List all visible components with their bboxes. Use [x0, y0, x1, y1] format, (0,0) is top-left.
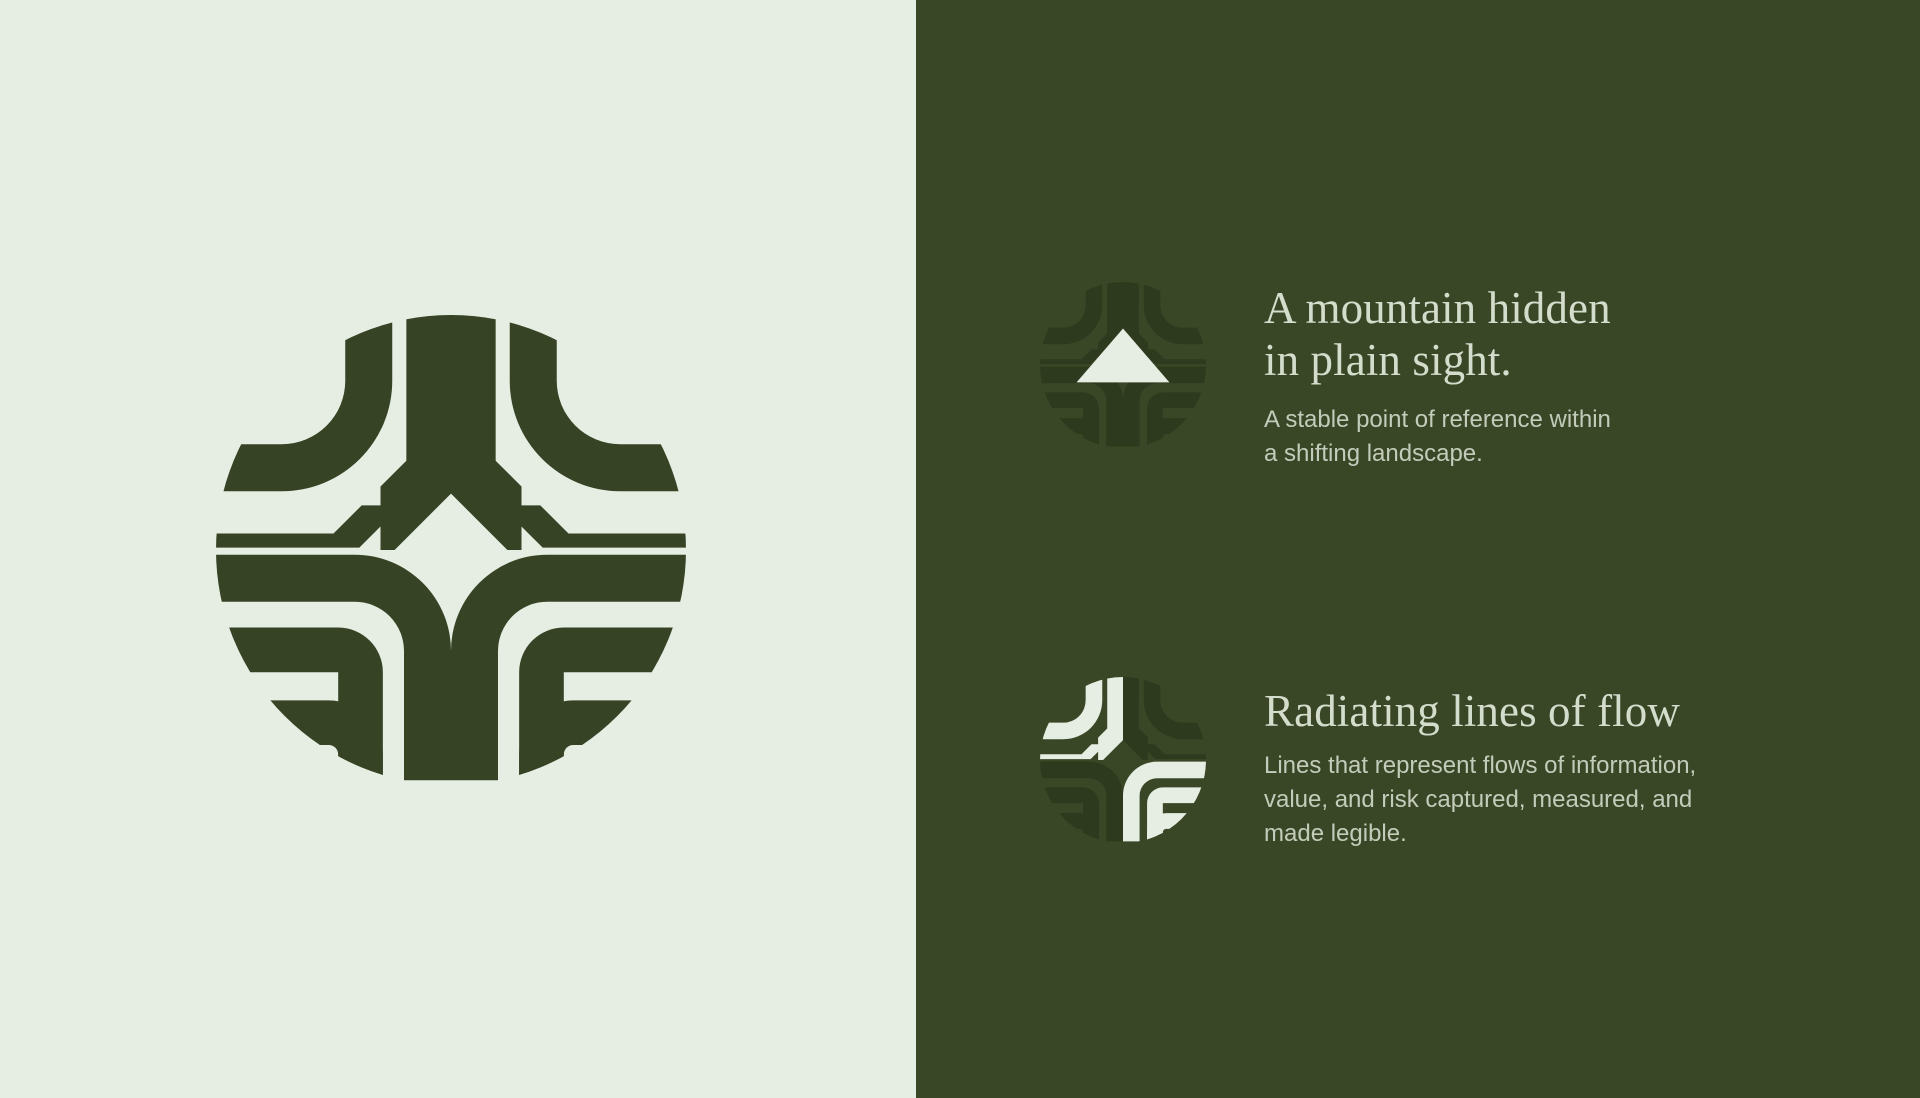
feature-text-block: A mountain hidden in plain sight. A stab…: [1264, 282, 1800, 472]
radiating-flow-lines-icon: [1040, 677, 1206, 843]
flow-quadrant-highlight-top-left: [1040, 677, 1123, 760]
explanation-panel: A mountain hidden in plain sight. A stab…: [916, 0, 1920, 1098]
mountain-in-mark-icon: [1040, 282, 1206, 448]
feature-title: A mountain hidden in plain sight.: [1264, 282, 1800, 386]
mark-quadrant-top-right: [451, 315, 686, 550]
brand-mark-logo: [216, 315, 686, 785]
flow-quadrant-dim-top-right: [1123, 677, 1206, 760]
flow-quadrant-dim-bottom-left: [1040, 761, 1123, 841]
showcase-panel: [0, 0, 916, 1098]
mark-quadrant-top-left: [216, 315, 451, 550]
feature-item-flow-lines: Radiating lines of flow Lines that repre…: [1040, 677, 1800, 851]
feature-description: A stable point of reference within a shi…: [1264, 403, 1800, 471]
feature-description: Lines that represent flows of informatio…: [1264, 749, 1800, 851]
feature-text-block: Radiating lines of flow Lines that repre…: [1264, 677, 1800, 851]
flow-quadrant-highlight-bottom-right: [1123, 761, 1206, 841]
feature-list: A mountain hidden in plain sight. A stab…: [1040, 282, 1800, 851]
feature-title: Radiating lines of flow: [1264, 685, 1800, 737]
mark-quadrant-bottom-right: [451, 555, 686, 781]
feature-item-mountain: A mountain hidden in plain sight. A stab…: [1040, 282, 1800, 472]
mark-quadrant-bottom-left: [216, 555, 451, 781]
